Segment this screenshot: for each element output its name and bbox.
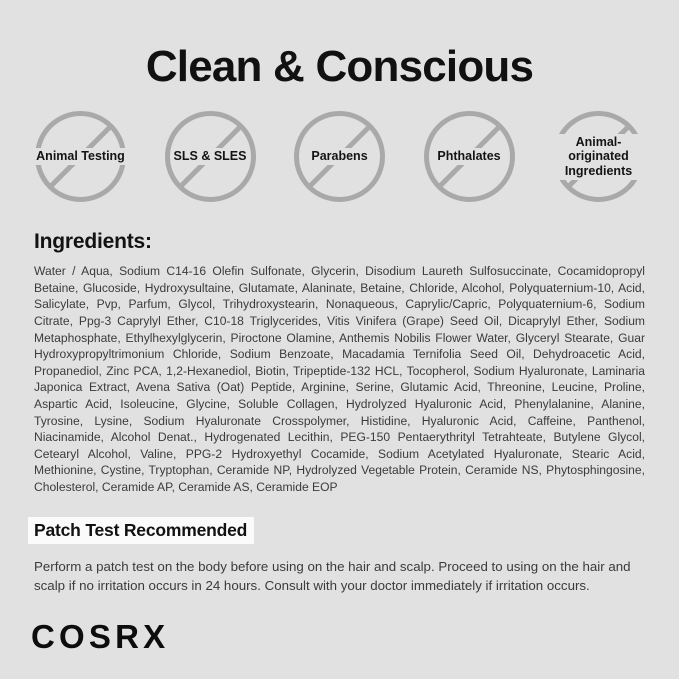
product-info-panel: Clean & Conscious Animal Testing SLS & S… [0, 0, 679, 679]
badge-label: Animal-originated Ingredients [551, 134, 646, 180]
patch-test-instructions: Perform a patch test on the body before … [0, 544, 679, 596]
badge-label: SLS & SLES [172, 148, 249, 165]
badge-animal-testing: Animal Testing [33, 109, 128, 204]
badge-phthalates: Phthalates [422, 109, 517, 204]
ingredients-heading: Ingredients: [0, 204, 679, 254]
patch-test-heading-wrap: Patch Test Recommended [0, 496, 679, 544]
patch-test-heading: Patch Test Recommended [28, 517, 254, 544]
free-from-badge-row: Animal Testing SLS & SLES Parabens Phtha… [0, 90, 679, 204]
badge-parabens: Parabens [292, 109, 387, 204]
page-title: Clean & Conscious [0, 0, 679, 90]
badge-label: Animal Testing [34, 148, 127, 165]
ingredients-list: Water / Aqua, Sodium C14-16 Olefin Sulfo… [0, 254, 679, 495]
badge-sls-sles: SLS & SLES [163, 109, 258, 204]
badge-animal-originated-ingredients: Animal-originated Ingredients [551, 109, 646, 204]
brand-logo: COSRX [31, 620, 169, 653]
badge-label: Parabens [309, 148, 369, 165]
badge-label: Phthalates [435, 148, 502, 165]
